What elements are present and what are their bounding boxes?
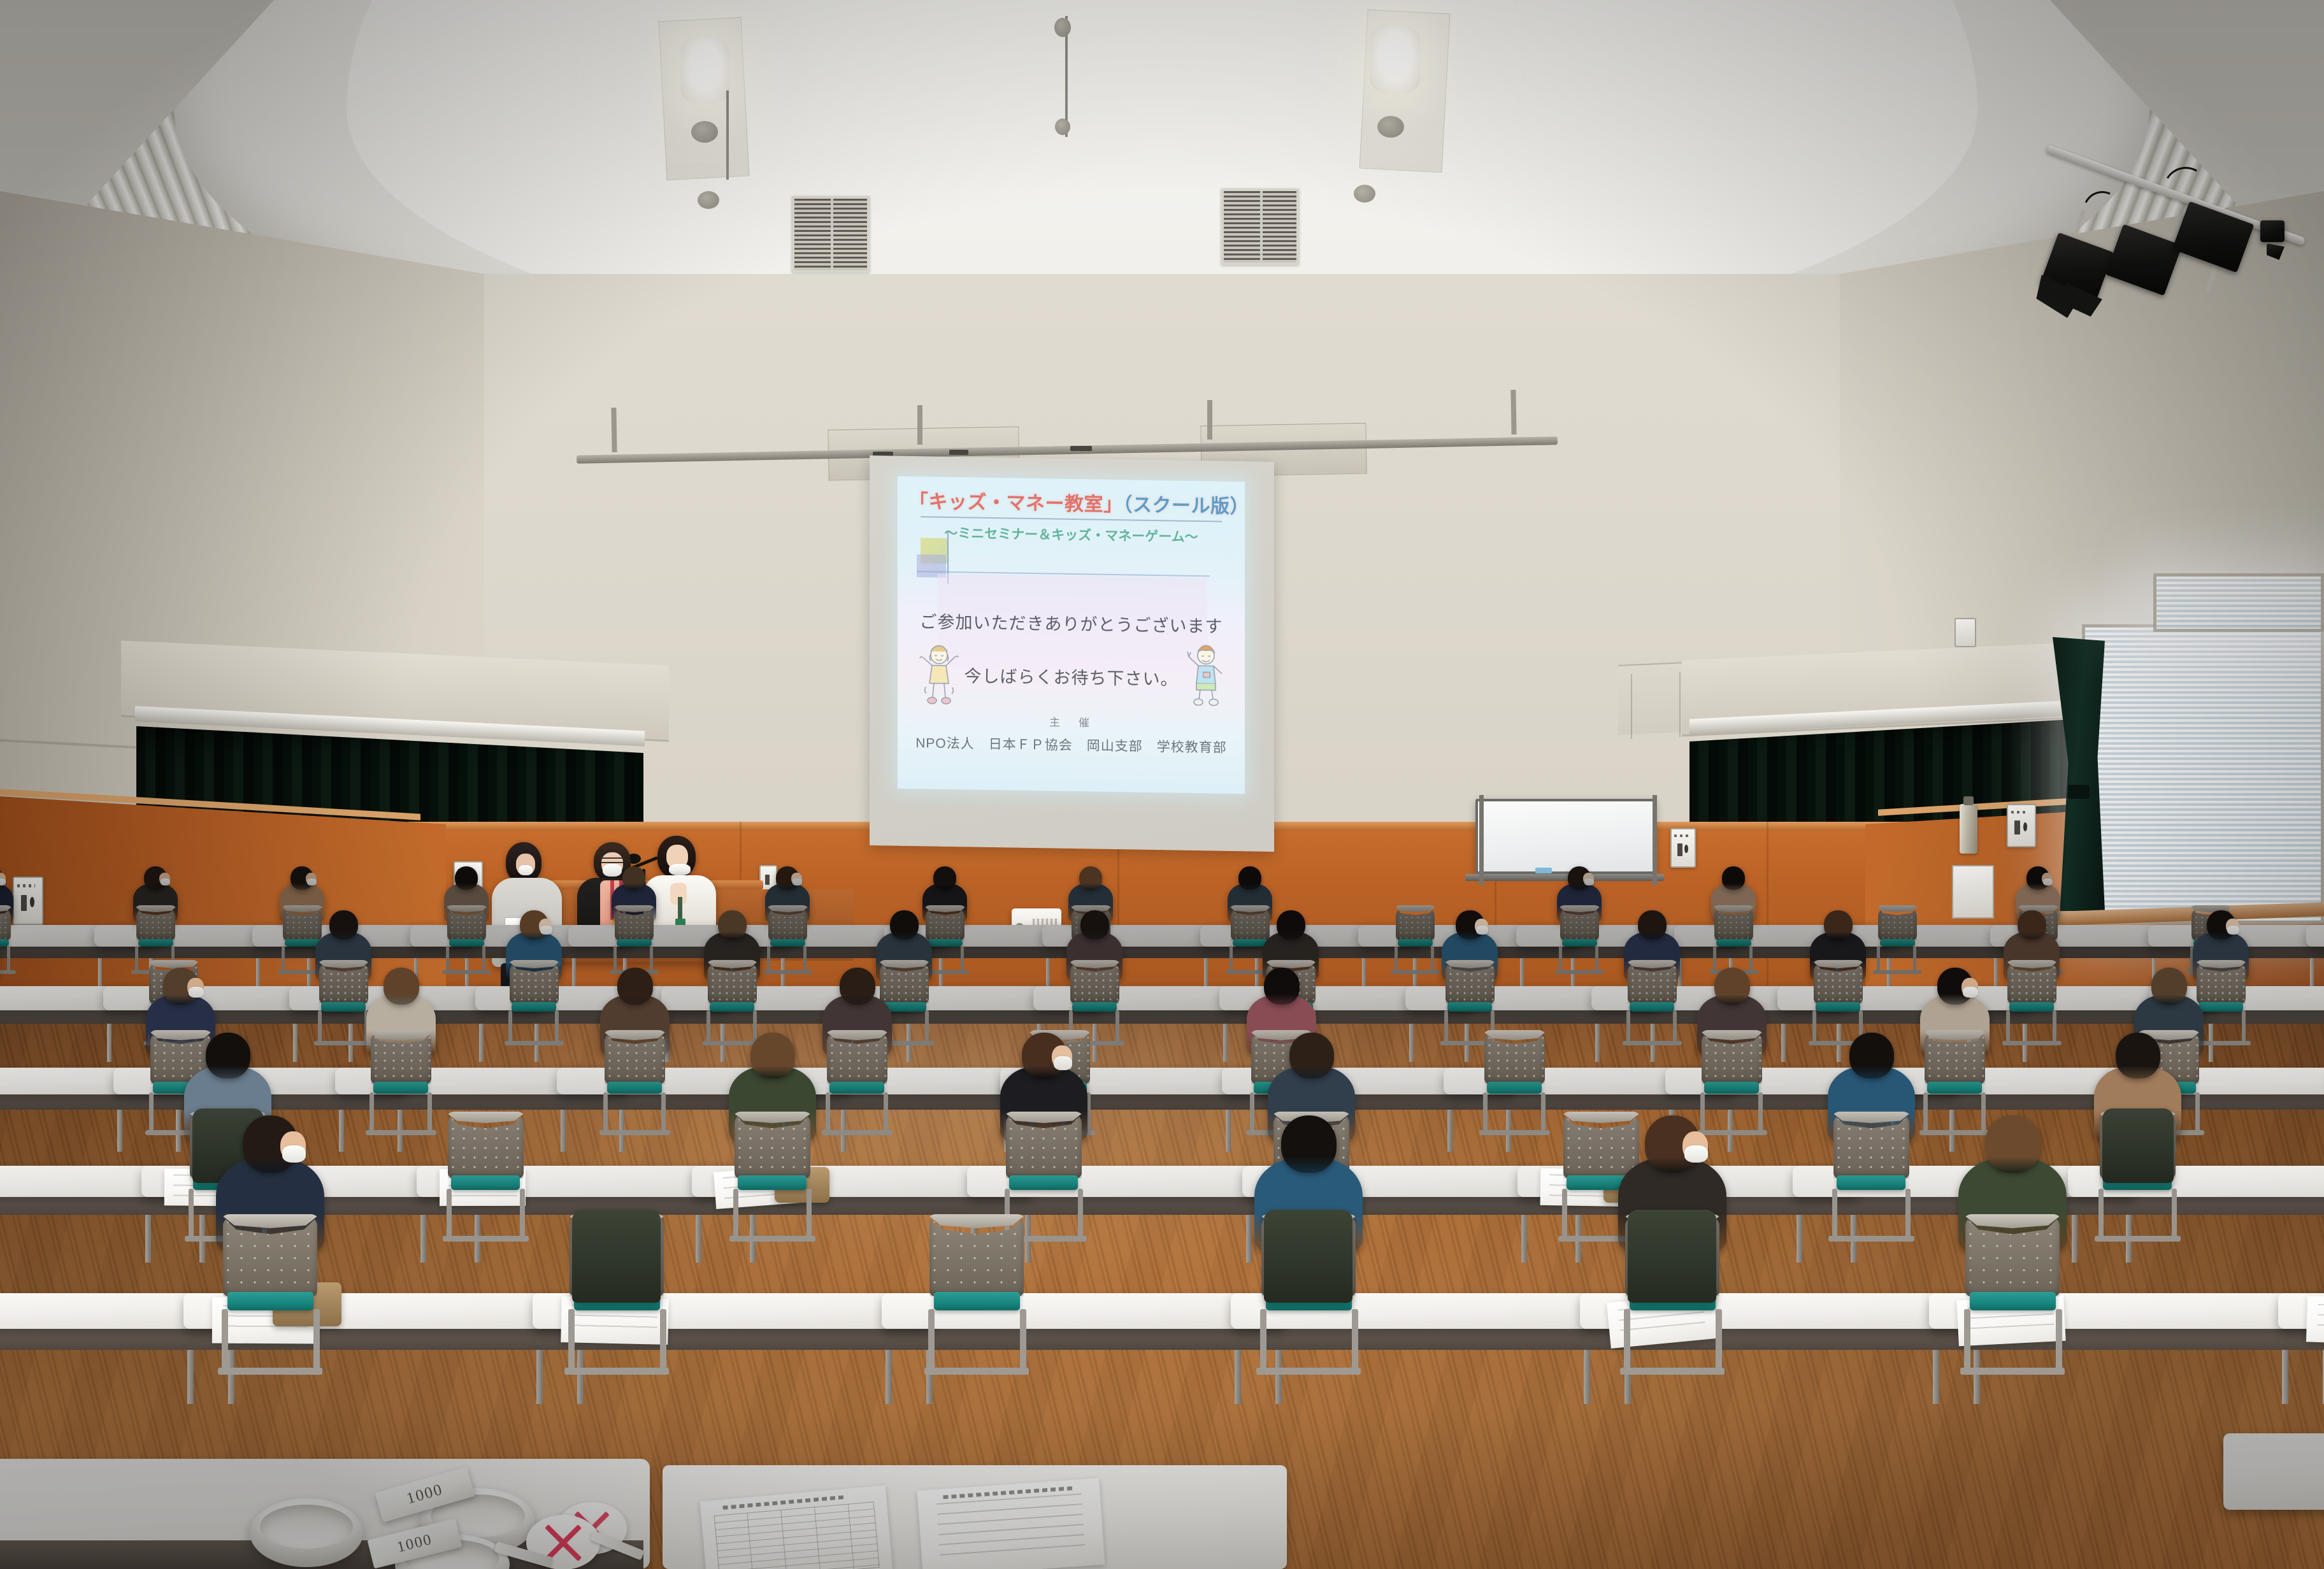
table-leg (841, 1105, 846, 1152)
face-mask (2043, 878, 2053, 885)
presenter-right-mask (669, 864, 691, 875)
chair-seat-cushion (1447, 1002, 1492, 1012)
face-mask (2227, 926, 2239, 935)
chair-leg (1352, 1309, 1358, 1370)
stacking-chair[interactable] (447, 908, 486, 941)
chair-seat-cushion (1487, 1082, 1542, 1094)
chair-skid (1623, 1041, 1682, 1045)
chair-leg (1395, 946, 1398, 971)
table-leg (619, 1105, 624, 1152)
face-mask (1054, 1056, 1072, 1070)
audience-member-head (718, 910, 747, 940)
table-leg (1575, 1207, 1581, 1263)
chair-seat-cushion (617, 939, 652, 947)
chair-seat-cushion (449, 939, 484, 947)
stacking-chair[interactable] (0, 908, 11, 941)
chair-rim (368, 1030, 434, 1040)
foreground-table-right (2223, 1433, 2324, 1510)
stacking-chair[interactable] (1628, 963, 1677, 1004)
chair-skid (0, 970, 16, 974)
stacking-chair[interactable] (136, 908, 175, 941)
fire-extinguisher[interactable] (1960, 804, 1977, 854)
chair-skid (2095, 1236, 2181, 1242)
audience-member-head (1264, 968, 1300, 1005)
audience-member-head (1277, 910, 1305, 940)
chair-seat-cushion (1704, 1082, 1759, 1094)
chair-rim (1625, 960, 1679, 968)
table-leg (1851, 1207, 1856, 1263)
table-leg (420, 1207, 426, 1263)
chair-skid (564, 1368, 669, 1375)
stacking-chair[interactable] (1484, 1033, 1545, 1084)
table-leg (107, 1021, 111, 1062)
chair-rim (705, 960, 759, 968)
chair-backrest (827, 1033, 887, 1084)
stacking-chair[interactable] (2007, 963, 2056, 1004)
table-leg (475, 1207, 480, 1263)
chair-leg (1905, 1189, 1911, 1238)
chair-leg (2172, 1189, 2177, 1238)
audience-member-head (2116, 1033, 2160, 1078)
chair-backrest (1396, 908, 1435, 941)
chair-backrest (1814, 963, 1863, 1004)
chair-backrest (1925, 1033, 1985, 1084)
chair-rim (1963, 1214, 2062, 1228)
table-apron (2074, 1196, 2324, 1215)
slide-host-org: NPO法人 日本ＦＰ協会 岡山支部 学校教育部 (898, 733, 1245, 757)
face-mask (189, 987, 204, 998)
chair-leg (1250, 1093, 1254, 1132)
chair-backrest (929, 1217, 1024, 1296)
screen-rail-post-mid2 (1207, 400, 1212, 440)
table-leg (176, 1105, 181, 1152)
ceiling-vent-right (1221, 189, 1299, 265)
chair-leg (1541, 1093, 1546, 1132)
stacking-chair[interactable] (768, 908, 807, 941)
chair-leg (1078, 1189, 1083, 1238)
chair-backrest (1965, 1217, 2060, 1296)
table-leg (1409, 1021, 1414, 1062)
chair-skid (1873, 970, 1922, 974)
chair-skid (1620, 1368, 1725, 1375)
slide-clipart-boy (1184, 640, 1228, 710)
projected-slide: 「キッズ・マネー教室」（スクール版） ～ミニセミナー＆キッズ・マネーゲーム～ ご… (898, 476, 1245, 794)
stacking-chair[interactable] (1702, 1033, 1762, 1084)
chair-skid (505, 1041, 564, 1045)
wall-panel-seam (1631, 674, 1632, 739)
chair-skid (1256, 1368, 1361, 1375)
stacking-chair[interactable] (1445, 963, 1495, 1004)
face-mask (282, 1145, 306, 1163)
chair-leg (189, 1189, 194, 1238)
chair-leg (1716, 1309, 1722, 1370)
chair-leg (222, 1309, 228, 1370)
chair-leg (807, 1189, 812, 1238)
ceiling-light-left (680, 37, 730, 103)
draped-coat (2102, 1108, 2174, 1183)
table-leg (339, 1105, 344, 1152)
table-leg (561, 1105, 566, 1152)
table-leg (199, 1207, 205, 1263)
table-leg (479, 1021, 484, 1062)
audience-member-head (1849, 1033, 1894, 1078)
chair-rim (1712, 905, 1756, 912)
stacking-chair[interactable] (1714, 908, 1753, 941)
chair-leg (928, 1309, 935, 1370)
chair-skid (1479, 1130, 1550, 1135)
ceiling-speaker-far-left (698, 191, 719, 209)
table-leg (1949, 1105, 1955, 1152)
chair-leg (925, 1010, 929, 1042)
chair-backrest (319, 963, 368, 1004)
chair-skid (2002, 1041, 2062, 1045)
money-packet-1-value: 1000 (405, 1481, 445, 1508)
chair-skid (314, 1041, 373, 1045)
chair-seat-cushion (1880, 939, 1915, 947)
chair-seat-cushion (1009, 1175, 1078, 1190)
table-leg (117, 1105, 122, 1152)
table-leg (2126, 1207, 2132, 1263)
stacking-chair[interactable] (510, 963, 559, 1004)
table-worksheet[interactable] (2306, 1296, 2324, 1345)
chair-backrest (2007, 963, 2056, 1004)
stacking-chair[interactable] (929, 1217, 1024, 1296)
chair-rim (766, 905, 810, 912)
slide-subtitle: ～ミニセミナー＆キッズ・マネーゲーム～ (909, 522, 1233, 547)
audience-member-head (2151, 968, 2187, 1005)
chair-seat-cushion (373, 1082, 428, 1094)
chair-seat-cushion (738, 1175, 807, 1190)
chair-seat-cushion (770, 939, 805, 947)
draped-coat (1264, 1210, 1352, 1303)
face-mask (540, 926, 552, 935)
chair-rim (1393, 905, 1437, 912)
chair-backrest (1628, 963, 1677, 1004)
slide-host-label: 主 催 (898, 711, 1245, 733)
ceiling-speaker-right (1377, 116, 1404, 138)
chair-leg (1483, 1093, 1488, 1132)
audience-member-head (1238, 866, 1261, 890)
slide-clipart-girl (917, 641, 961, 710)
audience-member-head (840, 968, 875, 1005)
chair-leg (1913, 946, 1916, 971)
chair-rim (445, 1112, 526, 1123)
chair-backrest (223, 1217, 317, 1296)
chair-seat-cushion (1072, 1002, 1117, 1012)
screen-rail-clip-c (1070, 446, 1092, 451)
audience-member-head (1985, 1115, 2041, 1173)
stacking-chair[interactable] (1878, 908, 1917, 941)
draped-coat (572, 1210, 661, 1303)
wall-panel-right[interactable] (2007, 804, 2036, 847)
chair-rim (1876, 905, 1919, 912)
window-curtain-tie-right[interactable] (2068, 785, 2090, 799)
chair-seat-cushion (138, 939, 173, 947)
chair-leg (508, 1010, 512, 1042)
chair-leg (1673, 1010, 1677, 1042)
chair-leg (1559, 946, 1562, 971)
chair-seat-cushion (1837, 1175, 1905, 1190)
audience-member-head (2018, 910, 2046, 940)
stacking-chair[interactable] (615, 908, 654, 941)
chair-leg (1562, 1189, 1567, 1238)
stacking-chair[interactable] (1396, 908, 1435, 941)
chair-rim (445, 905, 489, 912)
face-mask (1584, 878, 1594, 885)
screen-rail-post-right (1510, 390, 1516, 434)
chair-leg (446, 946, 449, 971)
presenter-left-mask (519, 865, 533, 875)
face-mask (1963, 987, 1978, 998)
face-mask (1684, 1145, 1708, 1163)
audience-member-head (933, 866, 956, 890)
chair-leg (803, 946, 807, 971)
ceiling-mount-center (1054, 18, 1071, 37)
wall-control-panel-whiteboard[interactable] (1670, 828, 1696, 868)
chair-rim (2005, 960, 2059, 968)
audience-member-head (622, 866, 645, 890)
stacking-chair[interactable] (1560, 908, 1599, 941)
chair-leg (1626, 1010, 1630, 1042)
chair-seat-cushion (2198, 1002, 2243, 1012)
whiteboard-leg-left (1479, 795, 1484, 885)
chair-leg (1877, 946, 1880, 971)
chair-leg (603, 1093, 608, 1132)
chair-leg (447, 1189, 452, 1238)
chair-leg (1230, 946, 1233, 971)
chair-backrest (510, 963, 559, 1004)
chair-seat-cushion (451, 1175, 520, 1190)
chair-backrest (1006, 1114, 1082, 1179)
chair-skid (924, 1368, 1029, 1375)
table-leg (1595, 1021, 1600, 1062)
audience-member-head (1714, 968, 1750, 1005)
table-leg (1521, 1207, 1527, 1263)
chair-leg (661, 1093, 666, 1132)
chair-leg (1444, 1010, 1448, 1042)
audience-member-head (750, 1033, 795, 1078)
photo-scene: 「キッズ・マネー教室」（スクール版） ～ミニセミナー＆キッズ・マネーゲーム～ ご… (0, 0, 2324, 1569)
chair-seat-cushion (1816, 1002, 1860, 1012)
chair-leg (313, 1309, 320, 1370)
chair-skid (442, 970, 491, 974)
stacking-chair[interactable] (708, 963, 757, 1004)
chair-leg (767, 946, 770, 971)
face-mask (0, 878, 6, 885)
chair-leg (1812, 1010, 1816, 1042)
window-right-upper (2153, 573, 2324, 632)
table-leg (2072, 1207, 2077, 1263)
screen-rail-post-left (611, 408, 617, 452)
stacking-chair[interactable] (1833, 1114, 1909, 1179)
audience-member-head (206, 1033, 250, 1078)
chair-leg (369, 1093, 374, 1132)
chair-skid (763, 970, 812, 974)
chair-leg (2006, 1010, 2010, 1042)
stacking-chair[interactable] (605, 1033, 665, 1084)
chair-leg (555, 1010, 559, 1042)
chair-leg (2195, 1093, 2200, 1132)
ceiling-mount-center-2 (1055, 118, 1070, 135)
chair-backrest (1714, 908, 1753, 941)
ceiling-speaker-far-right (1354, 185, 1375, 203)
chair-skid (1555, 970, 1604, 974)
table-apron (888, 1328, 1278, 1350)
chair-rim (1068, 960, 1122, 968)
chair-rim (1558, 905, 1602, 912)
table-leg (1506, 1105, 1511, 1152)
stacking-chair[interactable] (1925, 1033, 1985, 1084)
screen-rail-post-mid (917, 405, 922, 445)
chair-seat-cushion (1927, 1082, 1982, 1094)
chair-seat-cushion (1716, 939, 1751, 947)
chair-rim (732, 1112, 813, 1123)
chair-seat-cushion (710, 1002, 754, 1012)
table-leg (696, 1207, 701, 1263)
audience-member-head (1289, 1033, 1334, 1078)
face-mask (161, 878, 170, 885)
handout-sheet-top[interactable] (917, 1478, 1105, 1569)
chair-leg (2053, 1010, 2056, 1042)
stacking-chair[interactable] (1070, 963, 1119, 1004)
audience-member-head (1281, 1115, 1337, 1173)
audience-member-head (455, 866, 478, 890)
chair-rim (507, 960, 561, 968)
chair-leg (149, 1093, 154, 1132)
bowl-1[interactable] (250, 1498, 363, 1567)
chair-rim (1811, 960, 1865, 968)
chair-backrest (2197, 963, 2246, 1004)
chair-seat-cushion (934, 1292, 1020, 1310)
chair-seat-cushion (1630, 1002, 1674, 1012)
chair-backrest (605, 1033, 665, 1084)
window-right (2082, 624, 2324, 924)
table-leg (1223, 1021, 1228, 1062)
stacking-chair[interactable] (1814, 963, 1863, 1004)
chair-leg (520, 1189, 525, 1238)
chair-rim (927, 1214, 1026, 1228)
money-packet-2-value: 1000 (396, 1531, 434, 1556)
chair-seat-cushion (829, 1082, 884, 1094)
stacking-chair[interactable] (319, 963, 368, 1004)
table-leg (1781, 1021, 1786, 1062)
chair-leg (427, 1093, 432, 1132)
chair-rim (1699, 1030, 1765, 1040)
chair-seat-cushion (1970, 1292, 2056, 1310)
chair-skid (822, 1130, 893, 1135)
chair-backrest (371, 1033, 431, 1084)
chair-backrest (1702, 1033, 1762, 1084)
table-leg (1728, 1105, 1733, 1152)
chair-skid (599, 1130, 670, 1135)
chair-backrest (735, 1114, 810, 1179)
chair-backrest (1070, 963, 1119, 1004)
chair-seat-cushion (285, 939, 320, 947)
chair-rim (317, 960, 371, 968)
stacking-chair[interactable] (827, 1033, 887, 1084)
chair-leg (135, 946, 138, 971)
chair-seat-cushion (321, 1002, 366, 1012)
audience-member-head (1722, 866, 1745, 890)
audience-member-head (617, 968, 653, 1005)
screen-rail-clip-b (949, 450, 968, 455)
stacking-chair[interactable] (371, 1033, 431, 1084)
chair-leg (1020, 1309, 1026, 1370)
chair-leg (282, 946, 285, 971)
chair-rim (1831, 1112, 1912, 1123)
chair-backrest (615, 908, 654, 941)
chair-rim (1922, 1030, 1988, 1040)
chair-backrest (1484, 1033, 1545, 1084)
chair-seat-cushion (1398, 939, 1433, 947)
seminar-table (2306, 925, 2324, 947)
chair-skid (443, 1236, 529, 1242)
table-leg (293, 1021, 298, 1062)
chair-rim (134, 905, 178, 912)
chair-skid (1960, 1368, 2065, 1375)
slide-title-paren: （スクール版） (1123, 494, 1245, 517)
stacking-chair[interactable] (1006, 1114, 1082, 1179)
wall-notice-sign (1952, 865, 1994, 919)
chair-leg (1624, 1309, 1630, 1370)
chair-rim (1443, 960, 1497, 968)
chair-seat-cushion (1562, 939, 1597, 947)
chair-backrest (768, 908, 807, 941)
table-leg (1797, 1207, 1802, 1263)
audience-member-head (1079, 866, 1102, 890)
table-leg (398, 1105, 403, 1152)
chair-seat-cushion (928, 939, 963, 947)
stacking-chair[interactable] (2197, 963, 2246, 1004)
stacking-chair[interactable] (735, 1114, 810, 1179)
draped-coat (1628, 1210, 1716, 1303)
ceiling-speaker-left (691, 121, 718, 143)
audience-member-head (384, 968, 419, 1005)
table-leg (750, 1207, 756, 1263)
table-leg (1246, 1207, 1252, 1263)
whiteboard-marker[interactable] (1535, 868, 1552, 873)
chair-rim (612, 905, 656, 912)
chair-leg (707, 1010, 710, 1042)
table-leg (1226, 1105, 1231, 1152)
chair-backrest (708, 963, 757, 1004)
chair-leg (1260, 1309, 1266, 1370)
chair-leg (1964, 1309, 1970, 1370)
chair-leg (660, 1309, 666, 1370)
chair-skid (729, 1236, 815, 1242)
wall-control-panel-left[interactable] (13, 877, 43, 925)
stacking-chair[interactable] (1965, 1217, 2060, 1296)
chair-leg (7, 946, 10, 971)
presenter-right-lanyard (678, 897, 682, 920)
chair-leg (884, 1093, 888, 1132)
face-mask (793, 878, 802, 885)
table-leg (1025, 1207, 1031, 1263)
audience-member-head (329, 910, 358, 940)
audience-member-head (890, 910, 919, 940)
chair-rim (824, 1030, 890, 1040)
stacking-chair[interactable] (223, 1217, 317, 1296)
chair-leg (961, 946, 964, 971)
chair-leg (2242, 1010, 2246, 1042)
chair-backrest (0, 908, 11, 941)
presenter-center-glasses (601, 857, 623, 863)
chair-rim (1482, 1030, 1547, 1040)
chair-skid (1391, 970, 1440, 974)
chair-backrest (1833, 1114, 1909, 1179)
stacking-chair[interactable] (448, 1114, 524, 1179)
wall-switch-plate[interactable] (1955, 618, 1976, 647)
